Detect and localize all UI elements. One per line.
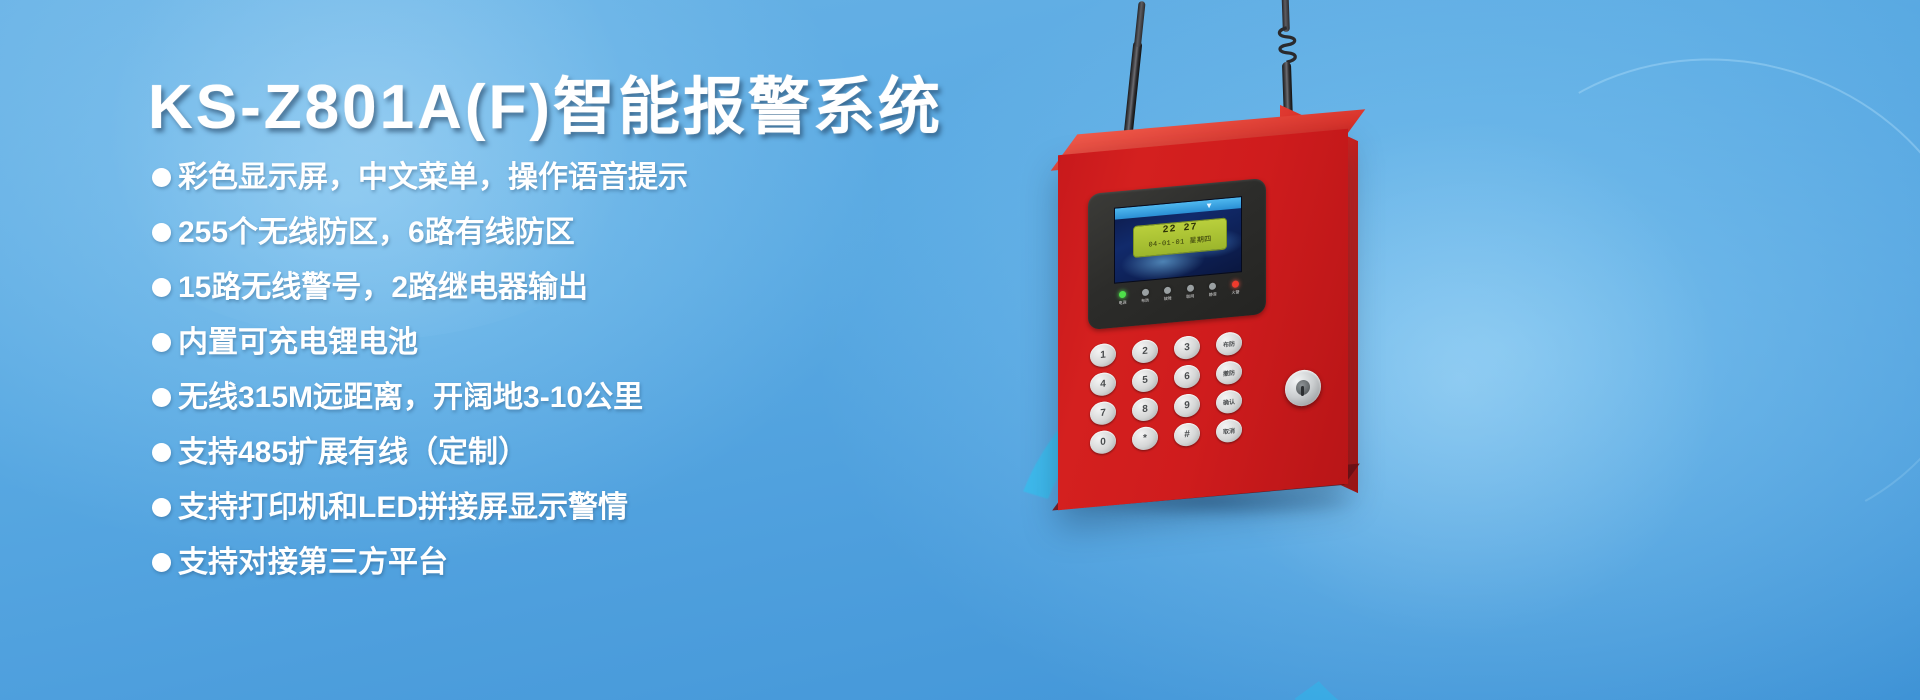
- copy-block: KS-Z801A(F)智能报警系统 彩色显示屏，中文菜单，操作语音提示 255个…: [0, 0, 960, 700]
- filled-circle-bullet-icon: [152, 498, 171, 517]
- keypad: 1 2 3 布防 4 5 6 撤防 7 8 9 确认 0 * # 取消: [1090, 331, 1242, 473]
- led-label: 故障: [1159, 295, 1176, 302]
- feature-text: 支持打印机和LED拼接屏显示警情: [178, 482, 628, 533]
- status-led-arm: 布防: [1137, 288, 1154, 316]
- key-star[interactable]: *: [1132, 426, 1158, 451]
- feature-text: 无线315M远距离，开阔地3-10公里: [178, 372, 643, 423]
- key-3[interactable]: 3: [1174, 335, 1200, 360]
- key-0[interactable]: 0: [1090, 430, 1116, 455]
- status-led-fire: 火警: [1227, 280, 1244, 308]
- status-led-network: 联网: [1182, 284, 1199, 312]
- list-item: 支持对接第三方平台: [152, 537, 952, 588]
- list-item: 支持打印机和LED拼接屏显示警情: [152, 482, 952, 533]
- led-label: 布防: [1137, 297, 1154, 304]
- banner-stage: KS-Z801A(F)智能报警系统 彩色显示屏，中文菜单，操作语音提示 255个…: [0, 0, 1920, 700]
- led-indicator-icon: [1187, 284, 1194, 292]
- led-indicator-icon: [1209, 282, 1216, 290]
- led-label: 静音: [1204, 291, 1221, 298]
- lcd-weekday: 星期四: [1190, 236, 1212, 245]
- key-7[interactable]: 7: [1090, 401, 1116, 426]
- key-9[interactable]: 9: [1174, 393, 1200, 418]
- filled-circle-bullet-icon: [152, 553, 171, 572]
- filled-circle-bullet-icon: [152, 333, 171, 352]
- status-led-mute: 静音: [1204, 282, 1221, 310]
- led-label: 电源: [1114, 299, 1131, 306]
- list-item: 内置可充电锂电池: [152, 317, 952, 368]
- page-title: KS-Z801A(F)智能报警系统: [148, 56, 943, 146]
- feature-text: 彩色显示屏，中文菜单，操作语音提示: [178, 152, 688, 203]
- status-led-fault: 故障: [1159, 286, 1176, 314]
- led-label: 火警: [1227, 289, 1244, 296]
- led-label: 联网: [1182, 293, 1199, 300]
- led-indicator-icon: [1119, 291, 1126, 299]
- key-6[interactable]: 6: [1174, 364, 1200, 389]
- led-indicator-icon: [1232, 280, 1239, 288]
- key-confirm[interactable]: 确认: [1216, 389, 1242, 414]
- feature-text: 支持对接第三方平台: [178, 537, 448, 588]
- list-item: 255个无线防区，6路有线防区: [152, 207, 952, 258]
- key-2[interactable]: 2: [1132, 339, 1158, 364]
- filled-circle-bullet-icon: [152, 388, 171, 407]
- filled-circle-bullet-icon: [152, 278, 171, 297]
- alarm-panel-device: ▼ 22 27 04-01-01星期四 电源 布防: [940, 0, 1920, 700]
- list-item: 无线315M远距离，开阔地3-10公里: [152, 372, 952, 423]
- antenna-icon: [1122, 1, 1138, 150]
- lcd-screen[interactable]: ▼ 22 27 04-01-01星期四: [1114, 196, 1242, 284]
- feature-list: 彩色显示屏，中文菜单，操作语音提示 255个无线防区，6路有线防区 15路无线警…: [152, 152, 952, 592]
- list-item: 彩色显示屏，中文菜单，操作语音提示: [152, 152, 952, 203]
- key-hash[interactable]: #: [1174, 422, 1200, 447]
- key-8[interactable]: 8: [1132, 397, 1158, 422]
- led-indicator-icon: [1142, 289, 1149, 297]
- led-indicator-icon: [1164, 287, 1171, 295]
- feature-text: 255个无线防区，6路有线防区: [178, 207, 575, 258]
- lcd-date: 04-01-01: [1149, 238, 1185, 249]
- feature-text: 支持485扩展有线（定制）: [178, 427, 528, 478]
- key-disarm[interactable]: 撤防: [1216, 360, 1242, 385]
- list-item: 支持485扩展有线（定制）: [152, 427, 952, 478]
- key-cancel[interactable]: 取消: [1216, 418, 1242, 443]
- status-led-row: 电源 布防 故障 联网 静音: [1114, 280, 1244, 318]
- filled-circle-bullet-icon: [152, 443, 171, 462]
- key-1[interactable]: 1: [1090, 343, 1116, 368]
- list-item: 15路无线警号，2路继电器输出: [152, 262, 952, 313]
- status-led-power: 电源: [1114, 290, 1131, 318]
- feature-text: 15路无线警号，2路继电器输出: [178, 262, 588, 313]
- key-5[interactable]: 5: [1132, 368, 1158, 393]
- key-4[interactable]: 4: [1090, 372, 1116, 397]
- feature-text: 内置可充电锂电池: [178, 317, 418, 368]
- display-bezel: ▼ 22 27 04-01-01星期四 电源 布防: [1088, 178, 1266, 330]
- filled-circle-bullet-icon: [152, 168, 171, 187]
- signal-icon: ▼: [1205, 201, 1213, 211]
- filled-circle-bullet-icon: [152, 223, 171, 242]
- key-arm[interactable]: 布防: [1216, 331, 1242, 356]
